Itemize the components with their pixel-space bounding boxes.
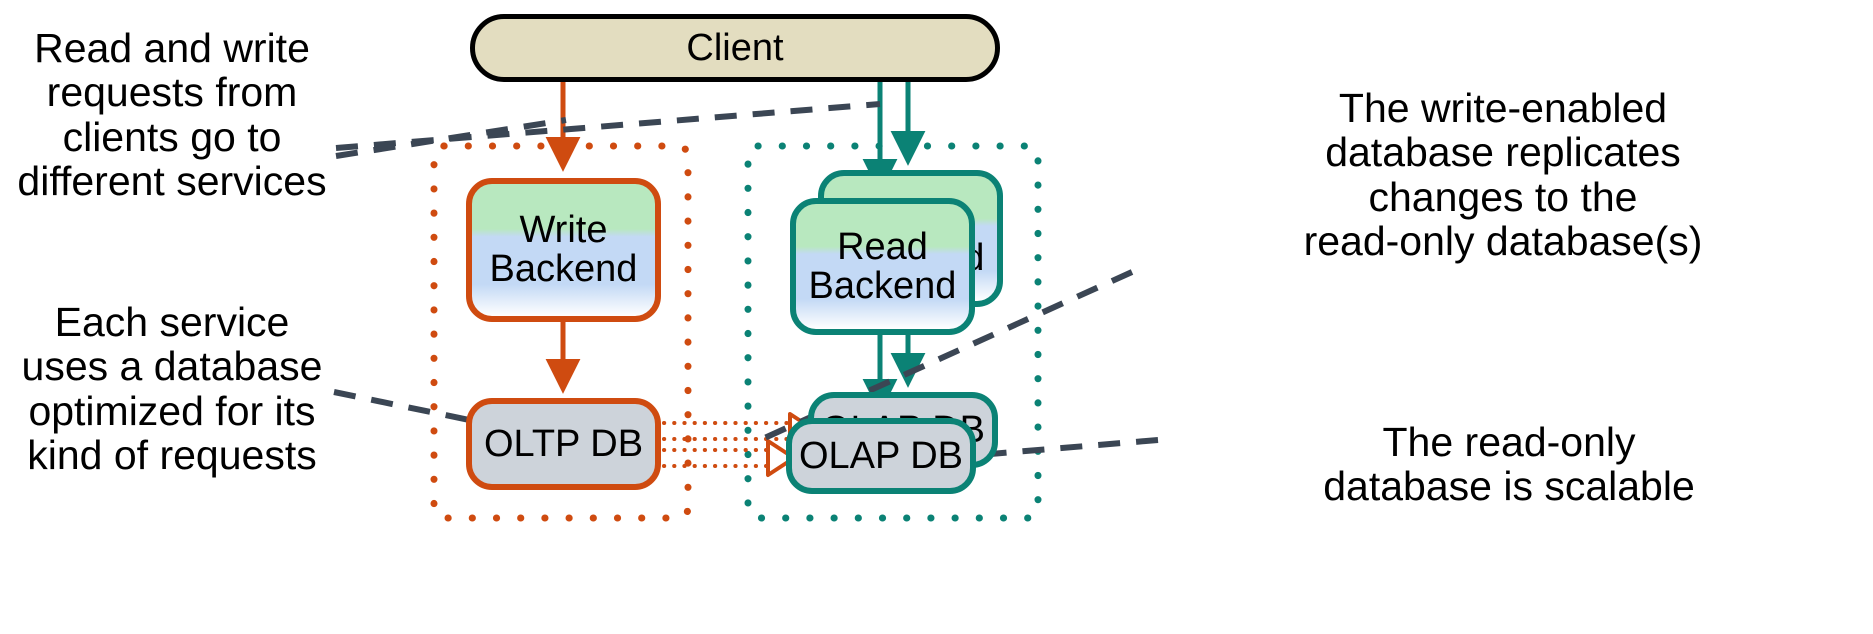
leader-line-left-top-b: [336, 120, 566, 156]
annotation-left-top: Read and write requests from clients go …: [2, 26, 342, 203]
node-read-backend-label: Read Backend: [809, 228, 957, 306]
node-write-backend[interactable]: Write Backend: [466, 178, 661, 322]
node-oltp-db[interactable]: OLTP DB: [466, 398, 661, 490]
node-write-backend-label: Write Backend: [490, 211, 638, 289]
node-client-label: Client: [686, 29, 783, 68]
node-client[interactable]: Client: [470, 14, 1000, 82]
diagram-canvas: Client Write Backend Read Backend Read B…: [0, 0, 1873, 634]
node-olap-db[interactable]: OLAP DB: [786, 418, 976, 494]
annotation-right-top: The write-enabled database replicates ch…: [1138, 86, 1868, 263]
edge-replication-to-olap-db-front: [664, 441, 794, 475]
annotation-right-bottom: The read-only database is scalable: [1150, 420, 1868, 509]
node-olap-db-label: OLAP DB: [799, 437, 963, 476]
node-read-backend[interactable]: Read Backend: [790, 198, 975, 335]
annotation-left-bottom: Each service uses a database optimized f…: [0, 300, 344, 477]
node-oltp-db-label: OLTP DB: [484, 425, 643, 464]
